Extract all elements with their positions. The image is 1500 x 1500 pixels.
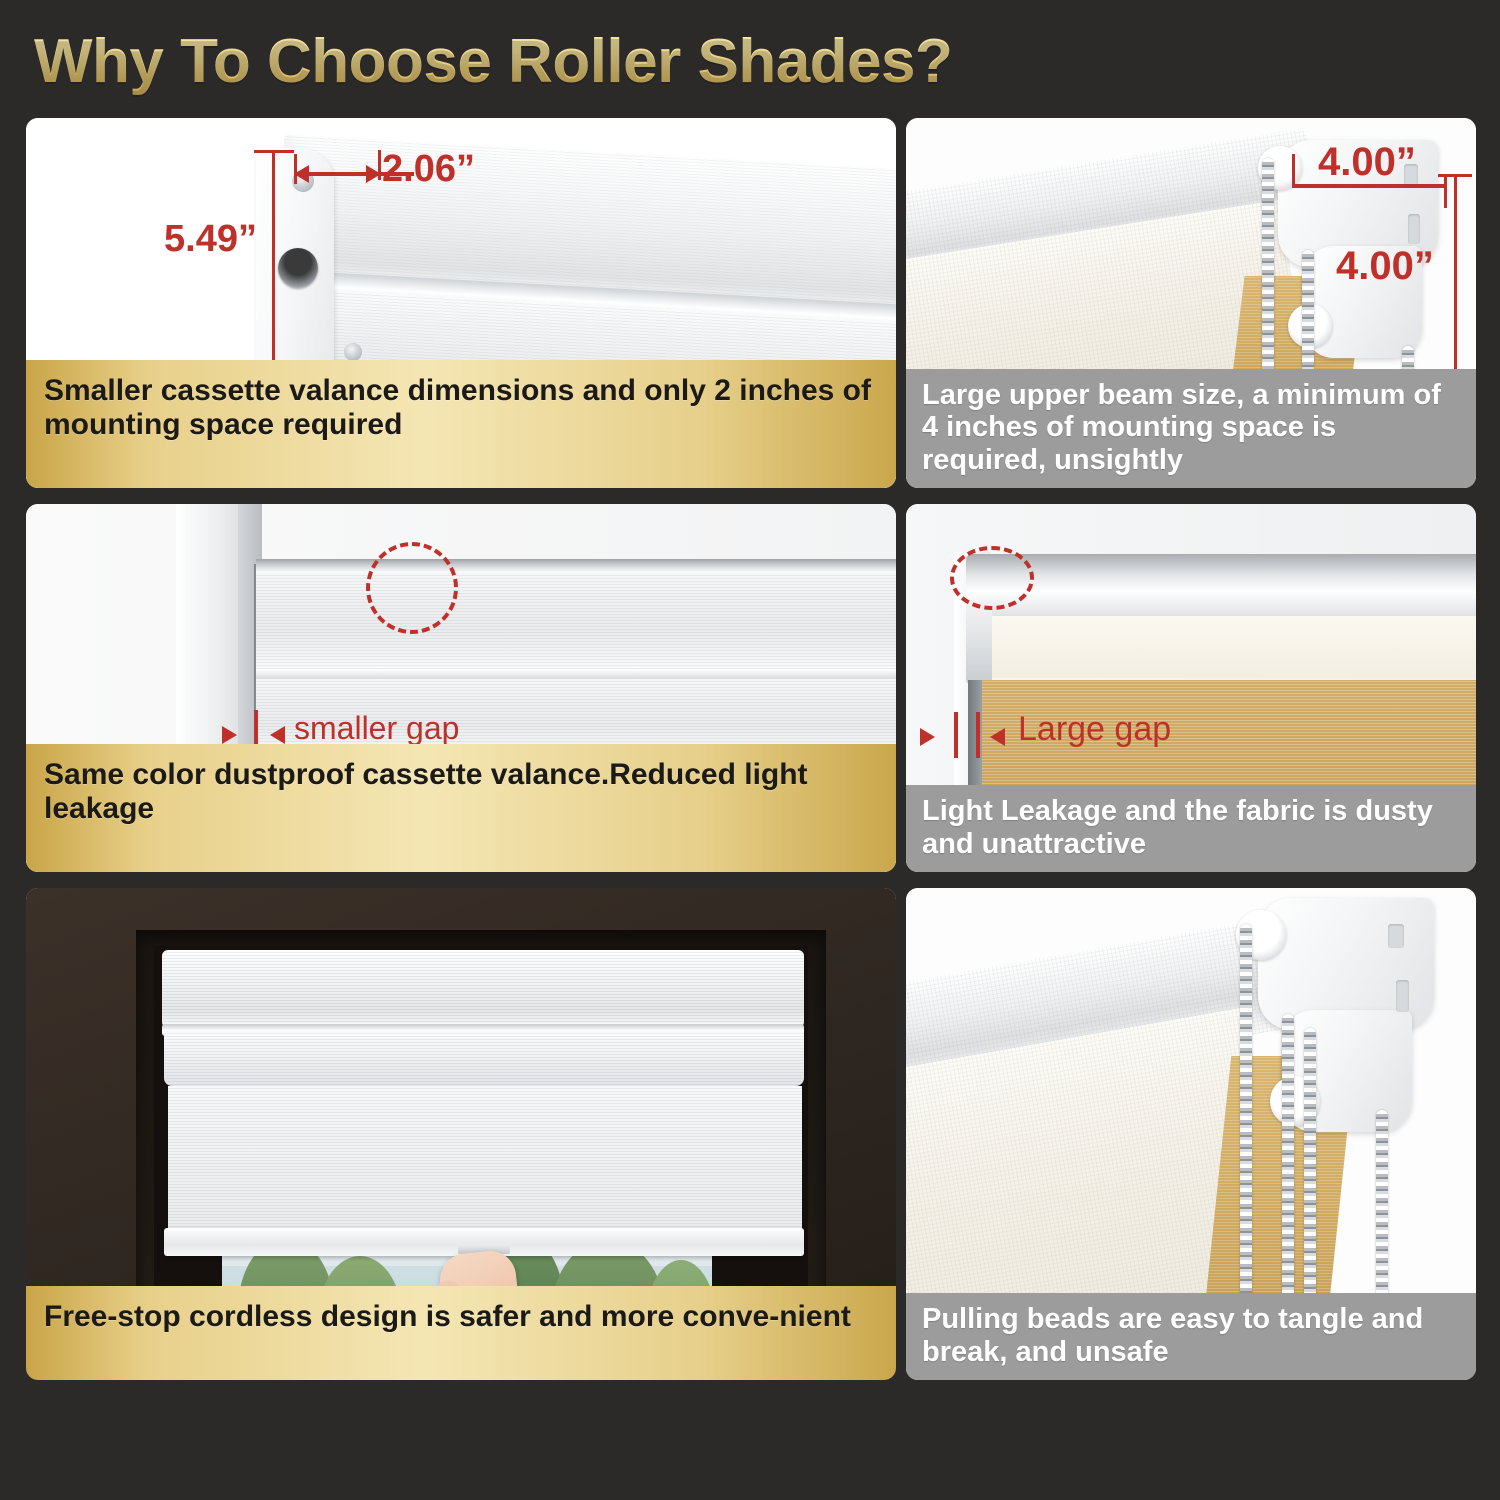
- panel-light-leakage: Large gap Light Leakage and the fabric i…: [906, 504, 1476, 872]
- panel-dustproof-cassette-valance: smaller gap Same color dustproof cassett…: [26, 504, 896, 872]
- detail-highlight-circle: [366, 542, 458, 634]
- cassette-top-rail: [256, 559, 896, 573]
- large-gap-label: Large gap: [1018, 710, 1171, 749]
- beam-height-tick-top: [1438, 174, 1472, 177]
- exposed-roller-tube: [966, 554, 1476, 622]
- gap-arrow-right-icon: [222, 726, 237, 744]
- beam-width-tick-left: [1292, 154, 1295, 188]
- beam-height-dimension-line: [1454, 174, 1457, 374]
- fabric-band-1: [256, 573, 896, 669]
- valance-mechanism-port: [278, 248, 318, 288]
- panel-pulling-beads: Pulling beads are easy to tangle and bre…: [906, 888, 1476, 1380]
- panel-free-stop-cordless: Free-stop cordless design is safer and m…: [26, 888, 896, 1380]
- width-arrow-left-icon: [294, 165, 309, 183]
- beam-width-dimension-label: 4.00”: [1318, 140, 1416, 185]
- panel-smaller-cassette-valance: 2.06” 5.49” Smaller cassette valance dim…: [26, 118, 896, 488]
- width-dimension-label: 2.06”: [382, 148, 475, 191]
- valance-front: [164, 1034, 804, 1086]
- caption-light-leakage: Light Leakage and the fabric is dusty an…: [906, 785, 1476, 872]
- cassette-headrail: [162, 950, 804, 1028]
- bead-chain-front: [1240, 924, 1252, 1344]
- caption-large-upper-beam: Large upper beam size, a minimum of 4 in…: [906, 369, 1476, 488]
- beam-width-tick-right: [1444, 174, 1447, 208]
- caption-dustproof-cassette-valance: Same color dustproof cassette valance.Re…: [26, 744, 896, 872]
- bracket-slot-a: [1388, 924, 1404, 948]
- gap-arrow-right-icon: [920, 728, 935, 746]
- infographic-root: Why To Choose Roller Shades? 2.06”: [0, 0, 1500, 1500]
- page-title: Why To Choose Roller Shades?: [34, 26, 952, 97]
- height-dimension-label: 5.49”: [164, 218, 257, 261]
- panel-large-upper-beam: 4.00” 4.00” Large upper beam size, a min…: [906, 118, 1476, 488]
- width-arrow-right-icon: [366, 165, 381, 183]
- gap-arrow-left-icon: [990, 728, 1005, 746]
- gap-arrow-left-icon: [270, 726, 285, 744]
- shade-top-band: [972, 616, 1476, 678]
- roller-bracket-fragment: [966, 604, 992, 684]
- shade-fabric: [168, 1086, 802, 1236]
- valance-screw-mid: [344, 343, 362, 361]
- fabric-separator-1: [256, 669, 896, 679]
- smaller-gap-label: smaller gap: [294, 710, 459, 747]
- gap-tick-right: [976, 712, 980, 758]
- height-dimension-tick-top: [254, 150, 294, 153]
- bracket-slot-b: [1408, 214, 1420, 244]
- beam-height-dimension-label: 4.00”: [1336, 244, 1434, 289]
- detail-highlight-circle: [950, 546, 1034, 610]
- caption-smaller-cassette-valance: Smaller cassette valance dimensions and …: [26, 360, 896, 488]
- gap-tick-left: [954, 712, 958, 758]
- caption-free-stop-cordless: Free-stop cordless design is safer and m…: [26, 1286, 896, 1380]
- caption-pulling-beads: Pulling beads are easy to tangle and bre…: [906, 1293, 1476, 1380]
- bracket-slot-b: [1396, 980, 1409, 1012]
